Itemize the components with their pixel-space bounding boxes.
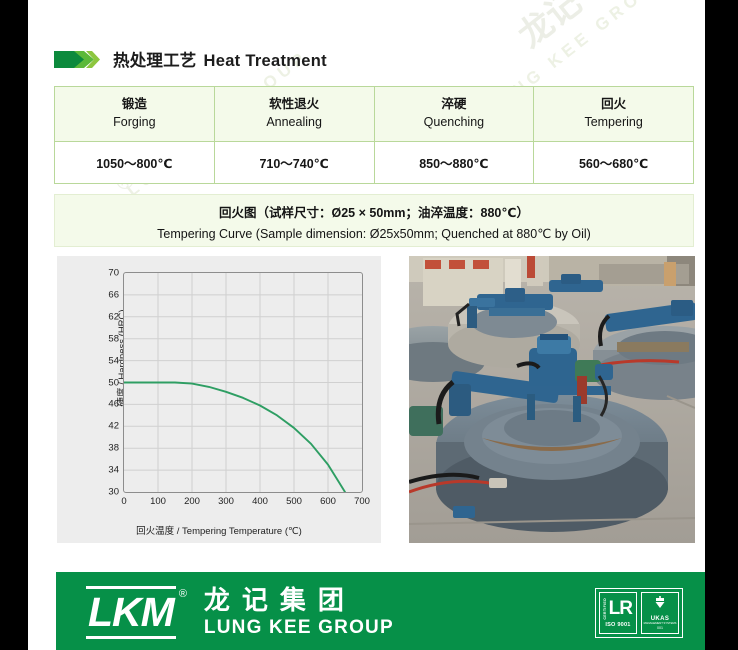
chart-y-tick: 66: [108, 289, 119, 300]
chart-y-tick: 30: [108, 487, 119, 498]
chart-svg: [124, 273, 362, 492]
ukas-crown-icon: [653, 596, 667, 615]
table-header-cell: 软性退火 Annealing: [214, 87, 374, 142]
column-title-en: Quenching: [377, 113, 532, 131]
certification-badges: CERTIFIED LR ISO 9001 UKAS MANAGEMENT SY…: [595, 588, 683, 638]
table-header-row: 锻造 Forging 软性退火 Annealing 淬硬 Quenching 回…: [55, 87, 694, 142]
certified-label: CERTIFIED: [604, 598, 608, 620]
chart-y-tick: 34: [108, 465, 119, 476]
double-chevron-right-icon: [54, 51, 100, 68]
chart-plot-area: 3034384246505458626670010020030040050060…: [123, 272, 363, 493]
chart-x-tick: 100: [150, 496, 166, 507]
chart-x-tick: 200: [184, 496, 200, 507]
page-canvas: LKM LUNG KEE GROUP 龙记 ® LKM LUNG KEE GRO…: [28, 0, 705, 650]
lr-mark: CERTIFIED LR: [604, 598, 632, 620]
furnace-photo: [409, 256, 695, 543]
company-name: 龙记集团 LUNG KEE GROUP: [204, 586, 394, 639]
column-title-cn: 软性退火: [217, 96, 372, 113]
registered-trademark-icon: ®: [179, 588, 187, 600]
column-title-en: Tempering: [536, 113, 691, 131]
ukas-badge: UKAS MANAGEMENT SYSTEMS 001: [641, 592, 679, 634]
table-header-cell: 淬硬 Quenching: [374, 87, 534, 142]
column-title-cn: 淬硬: [377, 96, 532, 113]
ukas-number: 001: [657, 626, 663, 630]
chart-y-tick: 50: [108, 377, 119, 388]
chart-y-tick: 58: [108, 333, 119, 344]
column-title-en: Forging: [57, 113, 212, 131]
table-header-cell: 回火 Tempering: [534, 87, 694, 142]
lkm-wordmark: LKM: [86, 586, 176, 639]
chart-y-tick: 54: [108, 355, 119, 366]
chart-x-tick: 700: [354, 496, 370, 507]
chart-caption-band: 回火图（试样尺寸：Ø25 × 50mm；油淬温度：880℃） Tempering…: [54, 194, 694, 247]
furnace-photo-image: [409, 256, 695, 543]
ukas-sub-label: MANAGEMENT SYSTEMS: [644, 623, 677, 626]
column-title-en: Annealing: [217, 113, 372, 131]
iso-standard-label: ISO 9001: [605, 622, 630, 628]
chart-x-tick: 400: [252, 496, 268, 507]
chart-y-tick: 38: [108, 443, 119, 454]
table-cell-value: 560～680℃: [534, 142, 694, 184]
chart-x-axis-label: 回火温度 / Tempering Temperature (℃): [57, 523, 381, 537]
lkm-text: LKM: [86, 592, 176, 633]
chart-y-tick: 42: [108, 421, 119, 432]
watermark-cn: 龙记: [693, 0, 705, 47]
company-name-cn: 龙记集团: [204, 586, 394, 616]
column-title-cn: 锻造: [57, 96, 212, 113]
chart-x-tick: 500: [286, 496, 302, 507]
page-title: 热处理工艺Heat Treatment: [113, 47, 327, 71]
table-row: 1050～800℃ 710～740℃ 850～880℃ 560～680℃: [55, 142, 694, 184]
logo-bar-bottom: [86, 636, 176, 639]
chart-x-tick: 600: [320, 496, 336, 507]
chart-caption-cn: 回火图（试样尺寸：Ø25 × 50mm；油淬温度：880℃）: [55, 202, 693, 221]
ukas-label: UKAS: [651, 616, 670, 622]
table-cell-value: 1050～800℃: [55, 142, 215, 184]
page-title-cn: 热处理工艺: [113, 52, 197, 70]
table-header-cell: 锻造 Forging: [55, 87, 215, 142]
page-title-en: Heat Treatment: [204, 52, 327, 70]
table-cell-value: 710～740℃: [214, 142, 374, 184]
chart-x-tick: 0: [121, 496, 126, 507]
page-footer: LKM ® 龙记集团 LUNG KEE GROUP CERTIFIED LR I…: [56, 572, 705, 650]
brand-logo: LKM ® 龙记集团 LUNG KEE GROUP: [86, 586, 394, 639]
watermark-brand: LKM: [648, 0, 705, 59]
chart-x-tick: 300: [218, 496, 234, 507]
watermark-cn: 龙记: [506, 0, 590, 57]
tempering-curve-chart: 硬度 / Hardness (HRC) 30343842465054586266…: [57, 256, 381, 543]
lloyds-register-iso-badge: CERTIFIED LR ISO 9001: [599, 592, 637, 634]
chart-y-tick: 70: [108, 268, 119, 279]
table-cell-value: 850～880℃: [374, 142, 534, 184]
column-title-cn: 回火: [536, 96, 691, 113]
company-name-en: LUNG KEE GROUP: [204, 617, 394, 639]
chart-y-tick: 62: [108, 311, 119, 322]
chart-caption-en: Tempering Curve (Sample dimension: Ø25x5…: [55, 226, 693, 241]
lr-letters: LR: [609, 600, 632, 617]
heat-treatment-table: 锻造 Forging 软性退火 Annealing 淬硬 Quenching 回…: [54, 86, 694, 184]
chart-y-tick: 46: [108, 399, 119, 410]
section-heading: 热处理工艺Heat Treatment: [54, 47, 327, 71]
